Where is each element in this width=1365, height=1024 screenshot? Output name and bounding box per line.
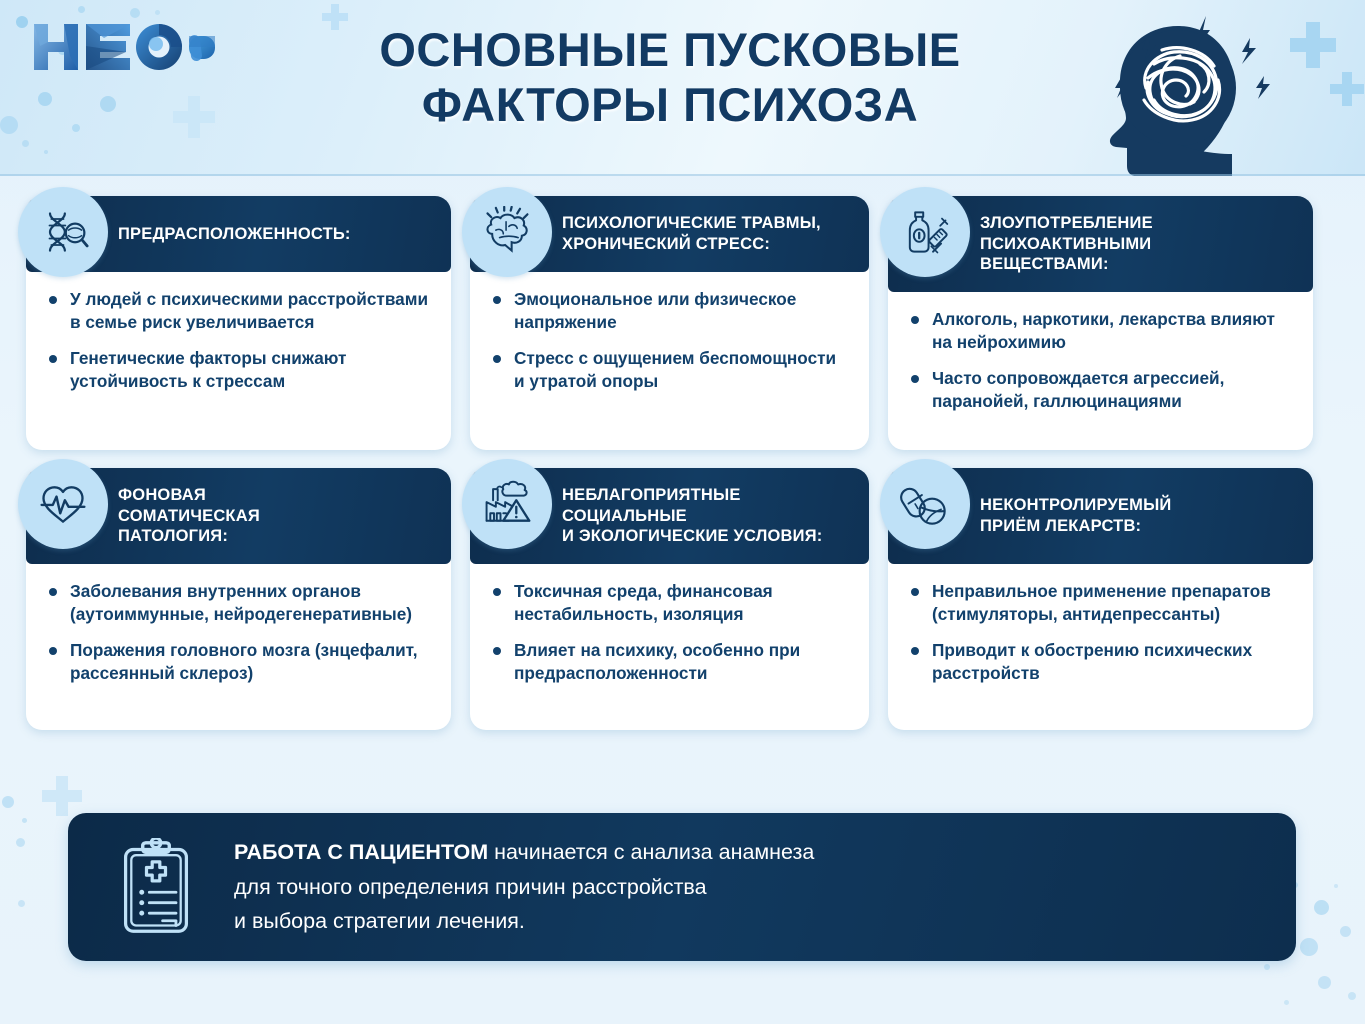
card-body: Заболевания внутренних органов (аутоимму… [26,564,451,730]
list-item: Влияет на психику, особенно при предрасп… [490,639,851,685]
card-body: Эмоциональное или физическое напряжение … [470,272,869,450]
card-title-line: ХРОНИЧЕСКИЙ СТРЕСС: [562,234,821,255]
clipboard-medical-icon [90,838,222,937]
card-header: НЕБЛАГОПРИЯТНЫЕ СОЦИАЛЬНЫЕ И ЭКОЛОГИЧЕСК… [470,468,869,564]
card-body: Неправильное применение препаратов (стим… [888,564,1313,730]
card-title: НЕКОНТРОЛИРУЕМЫЙ ПРИЁМ ЛЕКАРСТВ: [980,495,1171,537]
card-title: ЗЛОУПОТРЕБЛЕНИЕ ПСИХОАКТИВНЫМИ ВЕЩЕСТВАМ… [980,213,1153,275]
card-title-line: ПСИХОЛОГИЧЕСКИЕ ТРАВМЫ, [562,213,821,234]
header-plus-decoration [173,96,215,138]
bullet-list: Заболевания внутренних органов (аутоимму… [46,580,433,685]
page-title-line-1: ОСНОВНЫЕ ПУСКОВЫЕ [290,22,1050,77]
background-plus-left [42,776,82,816]
card-title-line: И ЭКОЛОГИЧЕСКИЕ УСЛОВИЯ: [562,526,822,547]
bullet-list: Алкоголь, наркотики, лекарства влияют на… [908,308,1295,413]
card-body: Алкоголь, наркотики, лекарства влияют на… [888,292,1313,450]
card-header: ЗЛОУПОТРЕБЛЕНИЕ ПСИХОАКТИВНЫМИ ВЕЩЕСТВАМ… [888,196,1313,292]
head-with-tangled-brain-icon [1082,4,1282,176]
card-header: НЕКОНТРОЛИРУЕМЫЙ ПРИЁМ ЛЕКАРСТВ: [888,468,1313,564]
card-header: ПРЕДРАСПОЛОЖЕННОСТЬ: [26,196,451,272]
card-title: ФОНОВАЯ СОМАТИЧЕСКАЯ ПАТОЛОГИЯ: [118,485,260,547]
list-item: Алкоголь, наркотики, лекарства влияют на… [908,308,1295,354]
card-substance-abuse[interactable]: ЗЛОУПОТРЕБЛЕНИЕ ПСИХОАКТИВНЫМИ ВЕЩЕСТВАМ… [888,196,1313,450]
card-somatic-pathology[interactable]: ФОНОВАЯ СОМАТИЧЕСКАЯ ПАТОЛОГИЯ: Заболева… [26,468,451,730]
header-divider [0,174,1365,176]
card-header: ПСИХОЛОГИЧЕСКИЕ ТРАВМЫ, ХРОНИЧЕСКИЙ СТРЕ… [470,196,869,272]
card-title-line: ПРЕДРАСПОЛОЖЕННОСТЬ: [118,224,351,245]
footer-line-2: для точного определения причин расстройс… [234,870,814,905]
page-title: ОСНОВНЫЕ ПУСКОВЫЕ ФАКТОРЫ ПСИХОЗА [290,22,1050,133]
card-title-line: НЕКОНТРОЛИРУЕМЫЙ [980,495,1171,516]
list-item: Поражения головного мозга (знцефалит, ра… [46,639,433,685]
card-title: ПРЕДРАСПОЛОЖЕННОСТЬ: [118,224,351,245]
card-psychological-trauma[interactable]: ПСИХОЛОГИЧЕСКИЕ ТРАВМЫ, ХРОНИЧЕСКИЙ СТРЕ… [470,196,869,450]
card-title-line: ПСИХОАКТИВНЫМИ [980,234,1153,255]
list-item: Приводит к обострению психических расстр… [908,639,1295,685]
pills-icon [880,459,970,549]
dna-magnifier-icon [18,187,108,277]
bottle-syringe-icon [880,187,970,277]
card-title: ПСИХОЛОГИЧЕСКИЕ ТРАВМЫ, ХРОНИЧЕСКИЙ СТРЕ… [562,213,821,255]
list-item: Часто сопровождается агрессией, паранойе… [908,367,1295,413]
card-title-line: ФОНОВАЯ [118,485,260,506]
footer-highlight: РАБОТА С ПАЦИЕНТОМ [234,840,488,864]
brand-logo[interactable] [26,16,216,78]
list-item: Генетические факторы снижают устойчивост… [46,347,433,393]
bullet-list: Неправильное применение препаратов (стим… [908,580,1295,685]
card-title-line: СОЦИАЛЬНЫЕ [562,506,822,527]
footer-line-1: РАБОТА С ПАЦИЕНТОМ начинается с анализа … [234,835,814,870]
card-title-line: СОМАТИЧЕСКАЯ [118,506,260,527]
stressed-brain-icon [462,187,552,277]
card-header: ФОНОВАЯ СОМАТИЧЕСКАЯ ПАТОЛОГИЯ: [26,468,451,564]
bullet-list: Эмоциональное или физическое напряжение … [490,288,851,393]
list-item: Эмоциональное или физическое напряжение [490,288,851,334]
card-title-line: ЗЛОУПОТРЕБЛЕНИЕ [980,213,1153,234]
page-title-line-2: ФАКТОРЫ ПСИХОЗА [290,77,1050,132]
list-item: Токсичная среда, финансовая нестабильнос… [490,580,851,626]
card-title: НЕБЛАГОПРИЯТНЫЕ СОЦИАЛЬНЫЕ И ЭКОЛОГИЧЕСК… [562,485,822,547]
list-item: Неправильное применение препаратов (стим… [908,580,1295,626]
header-plus-right-small [1330,72,1364,106]
card-social-ecological[interactable]: НЕБЛАГОПРИЯТНЫЕ СОЦИАЛЬНЫЕ И ЭКОЛОГИЧЕСК… [470,468,869,730]
footer-line-3: и выбора стратегии лечения. [234,904,814,939]
card-title-line: ПРИЁМ ЛЕКАРСТВ: [980,516,1171,537]
list-item: У людей с психическими расстройствами в … [46,288,433,334]
footer-banner: РАБОТА С ПАЦИЕНТОМ начинается с анализа … [68,813,1296,961]
infographic-page: ОСНОВНЫЕ ПУСКОВЫЕ ФАКТОРЫ ПСИХОЗА [0,0,1365,1024]
footer-line-1-rest: начинается с анализа анамнеза [488,840,814,864]
card-body: Токсичная среда, финансовая нестабильнос… [470,564,869,730]
card-uncontrolled-medication[interactable]: НЕКОНТРОЛИРУЕМЫЙ ПРИЁМ ЛЕКАРСТВ: Неправи… [888,468,1313,730]
heart-pulse-icon [18,459,108,549]
card-row-1: ПРЕДРАСПОЛОЖЕННОСТЬ: У людей с психическ… [26,196,1339,450]
list-item: Стресс с ощущением беспомощности и утрат… [490,347,851,393]
factory-warning-icon [462,459,552,549]
header-band: ОСНОВНЫЕ ПУСКОВЫЕ ФАКТОРЫ ПСИХОЗА [0,0,1365,176]
bullet-list: Токсичная среда, финансовая нестабильнос… [490,580,851,685]
card-title-line: НЕБЛАГОПРИЯТНЫЕ [562,485,822,506]
card-predisposition[interactable]: ПРЕДРАСПОЛОЖЕННОСТЬ: У людей с психическ… [26,196,451,450]
card-body: У людей с психическими расстройствами в … [26,272,451,450]
list-item: Заболевания внутренних органов (аутоимму… [46,580,433,626]
footer-text: РАБОТА С ПАЦИЕНТОМ начинается с анализа … [222,835,814,939]
bullet-list: У людей с психическими расстройствами в … [46,288,433,393]
card-row-2: ФОНОВАЯ СОМАТИЧЕСКАЯ ПАТОЛОГИЯ: Заболева… [26,468,1339,730]
header-plus-right-large [1290,22,1336,68]
card-title-line: ВЕЩЕСТВАМИ: [980,254,1153,275]
card-title-line: ПАТОЛОГИЯ: [118,526,260,547]
factor-cards-grid: ПРЕДРАСПОЛОЖЕННОСТЬ: У людей с психическ… [26,196,1339,748]
